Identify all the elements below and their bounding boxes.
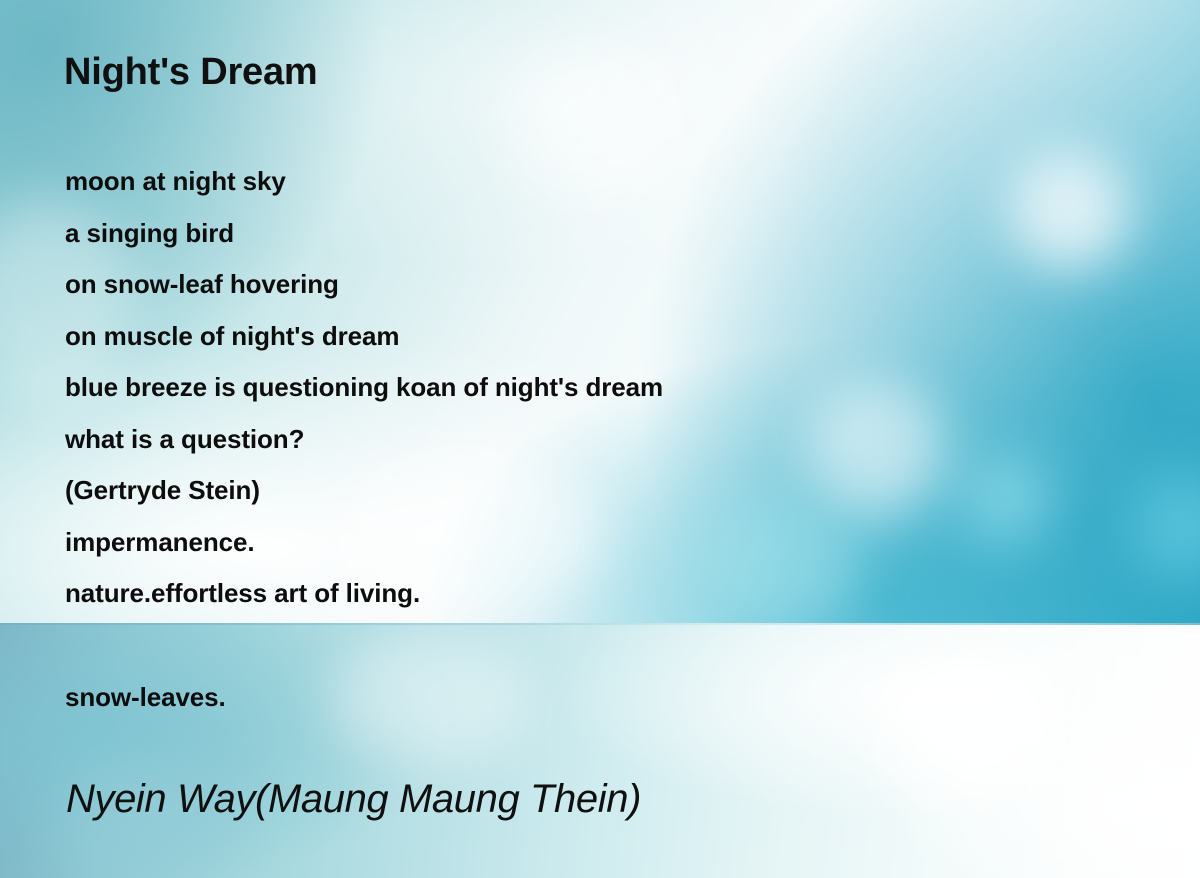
- poem-body: moon at night sky a singing bird on snow…: [65, 156, 1145, 620]
- poem-line: on muscle of night's dream: [65, 311, 1145, 363]
- poem-line: impermanence.: [65, 517, 1145, 569]
- poem-closing: snow-leaves.: [65, 672, 1145, 724]
- poem-line: on snow-leaf hovering: [65, 259, 1145, 311]
- poem-line: nature.effortless art of living.: [65, 568, 1145, 620]
- poem-line: a singing bird: [65, 208, 1145, 260]
- poem-line: (Gertryde Stein): [65, 465, 1145, 517]
- author-signature: Nyein Way(Maung Maung Thein): [66, 777, 641, 822]
- poem-line: blue breeze is questioning koan of night…: [65, 362, 1145, 414]
- poem-line: snow-leaves.: [65, 672, 1145, 724]
- poem-line: what is a question?: [65, 414, 1145, 466]
- poem-line: moon at night sky: [65, 156, 1145, 208]
- poem-content: Night's Dream moon at night sky a singin…: [0, 0, 1200, 878]
- page-title: Night's Dream: [64, 52, 318, 94]
- poem-image-card: Night's Dream moon at night sky a singin…: [0, 0, 1200, 878]
